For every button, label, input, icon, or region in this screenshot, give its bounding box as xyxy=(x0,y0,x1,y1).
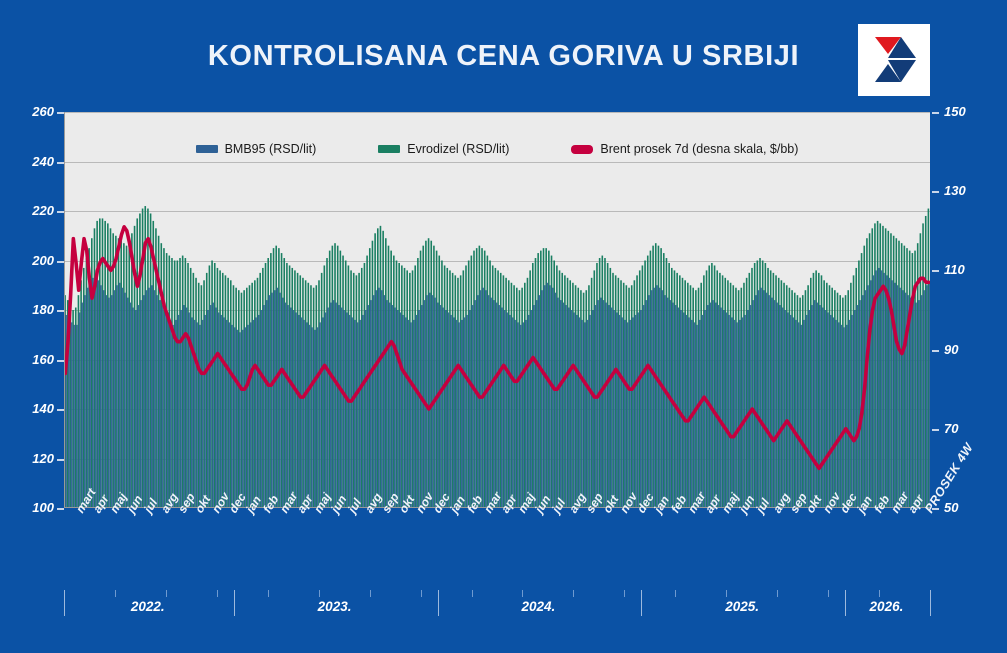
y-tick-mark-left xyxy=(57,211,64,213)
legend-label: Evrodizel (RSD/lit) xyxy=(407,142,509,156)
year-boundary-tick xyxy=(641,590,642,616)
year-minor-tick xyxy=(777,590,778,597)
y-tick-label-left: 200 xyxy=(6,253,54,268)
legend-item[interactable]: Brent prosek 7d (desna skala, $/bb) xyxy=(571,142,798,156)
year-minor-tick xyxy=(166,590,167,597)
plot-area xyxy=(64,112,930,508)
y-axis-line xyxy=(64,112,65,508)
nis-arrow-logo xyxy=(858,24,930,96)
year-minor-tick xyxy=(522,590,523,597)
plot-canvas xyxy=(64,112,930,508)
y-tick-label-right: 50 xyxy=(944,500,992,515)
y-tick-mark-left xyxy=(57,459,64,461)
year-label: 2024. xyxy=(521,599,555,614)
y-tick-label-left: 240 xyxy=(6,154,54,169)
year-minor-tick xyxy=(421,590,422,597)
y-tick-mark-right xyxy=(932,270,939,272)
year-axis: 2022.2023.2024.2025.2026. xyxy=(64,590,930,626)
logo-svg xyxy=(858,24,930,96)
y-tick-label-right: 130 xyxy=(944,183,992,198)
y-tick-label-right: 150 xyxy=(944,104,992,119)
y-tick-mark-right xyxy=(932,429,939,431)
year-minor-tick xyxy=(472,590,473,597)
chart-root: KONTROLISANA CENA GORIVA U SRBIJI BMB95 … xyxy=(0,0,1007,653)
year-minor-tick xyxy=(828,590,829,597)
y-tick-mark-left xyxy=(57,310,64,312)
year-boundary-tick xyxy=(845,590,846,616)
year-minor-tick xyxy=(115,590,116,597)
y-tick-mark-left xyxy=(57,112,64,114)
year-minor-tick xyxy=(675,590,676,597)
y-tick-label-left: 120 xyxy=(6,451,54,466)
y-tick-mark-right xyxy=(932,350,939,352)
chart-legend: BMB95 (RSD/lit)Evrodizel (RSD/lit)Brent … xyxy=(64,138,930,160)
y-tick-mark-right xyxy=(932,112,939,114)
legend-label: Brent prosek 7d (desna skala, $/bb) xyxy=(600,142,798,156)
year-minor-tick xyxy=(726,590,727,597)
series-svg xyxy=(64,112,930,508)
legend-item[interactable]: Evrodizel (RSD/lit) xyxy=(378,142,509,156)
y-tick-label-right: 90 xyxy=(944,342,992,357)
year-minor-tick xyxy=(319,590,320,597)
legend-swatch-icon xyxy=(571,145,593,154)
legend-swatch-icon xyxy=(378,145,400,153)
y-tick-label-left: 220 xyxy=(6,203,54,218)
year-minor-tick xyxy=(879,590,880,597)
year-label: 2023. xyxy=(318,599,352,614)
y-tick-label-left: 260 xyxy=(6,104,54,119)
year-label: 2025. xyxy=(725,599,759,614)
y-tick-mark-left xyxy=(57,360,64,362)
y-tick-label-left: 100 xyxy=(6,500,54,515)
y-tick-mark-right xyxy=(932,191,939,193)
year-minor-tick xyxy=(268,590,269,597)
year-boundary-tick xyxy=(438,590,439,616)
year-boundary-tick xyxy=(234,590,235,616)
year-label: 2022. xyxy=(131,599,165,614)
year-minor-tick xyxy=(573,590,574,597)
year-minor-tick xyxy=(217,590,218,597)
y-tick-mark-left xyxy=(57,409,64,411)
legend-item[interactable]: BMB95 (RSD/lit) xyxy=(196,142,317,156)
y-tick-mark-left xyxy=(57,508,64,510)
y-tick-label-left: 180 xyxy=(6,302,54,317)
legend-swatch-icon xyxy=(196,145,218,153)
legend-label: BMB95 (RSD/lit) xyxy=(225,142,317,156)
y-tick-label-left: 140 xyxy=(6,401,54,416)
year-boundary-tick xyxy=(930,590,931,616)
y-tick-label-right: 70 xyxy=(944,421,992,436)
y-tick-label-left: 160 xyxy=(6,352,54,367)
year-label: 2026. xyxy=(870,599,904,614)
page-title: KONTROLISANA CENA GORIVA U SRBIJI xyxy=(0,40,1007,73)
y-tick-mark-left xyxy=(57,261,64,263)
year-minor-tick xyxy=(624,590,625,597)
year-boundary-tick xyxy=(64,590,65,616)
year-minor-tick xyxy=(370,590,371,597)
y-tick-label-right: 110 xyxy=(944,262,992,277)
y-tick-mark-left xyxy=(57,162,64,164)
x-axis-labels: martaprmajjunjulavgsepoktnovdecjanfebmar… xyxy=(64,508,930,598)
